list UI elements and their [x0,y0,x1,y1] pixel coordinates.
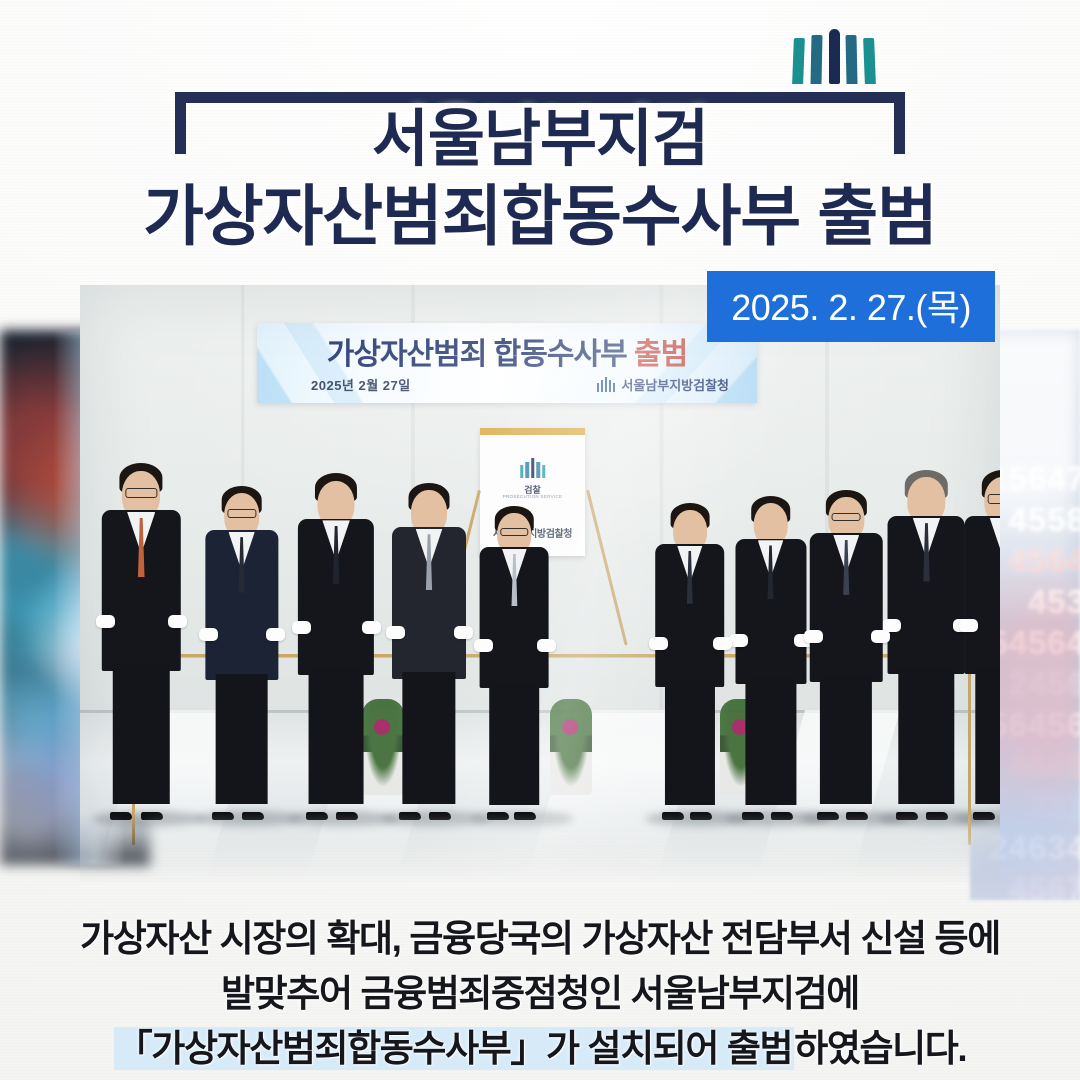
caption-line-3: 「가상자산범죄합동수사부」가 설치되어 출범하였습니다. [0,1022,1080,1077]
figure-shoe-right [846,812,868,820]
figure-legs [976,667,1000,804]
figure-glove-right [454,626,473,639]
banner-title-accent: 출범 [634,338,687,371]
figure-shoe-right [926,812,948,820]
title-line-2: 가상자산범죄합동수사부 출범 [0,180,1080,254]
plaque-name-en: PROSECUTION SERVICE [480,494,585,499]
decorative-plant [550,699,592,795]
figure-glove-left [292,621,311,634]
figure-legs [899,667,954,804]
figure-shoe-right [690,812,712,820]
official-figure [965,470,1000,813]
figure-legs [113,664,169,804]
figure-shoe-left [399,812,421,820]
official-figure [480,506,549,813]
title-line-1: 서울남부지검 [0,105,1080,174]
figure-glove-right [362,621,381,634]
figure-shoe-left [487,812,509,820]
figure-glasses [227,509,256,518]
banner-title: 가상자산범죄 합동수사부 출범 [257,329,757,373]
official-figure [102,463,180,813]
figure-glove-right [871,630,890,643]
prosecution-bars-icon [597,377,616,392]
figure-glove-right [266,628,285,641]
official-figure [810,490,883,813]
figure-shoe-right [242,812,264,820]
prosecution-service-logo-icon [793,30,875,84]
figure-legs [665,681,715,805]
figure-glove-left [474,639,493,652]
figure-shoe-right [429,812,451,820]
banner-org-label: 서울남부지방검찰청 [621,375,729,394]
figure-shoe-right [514,812,536,820]
banner-date: 2025년 2월 27일 [311,375,411,394]
figure-legs [309,668,364,804]
figure-glove-right [537,639,556,652]
prosecution-bars-icon [520,458,546,478]
banner-organization: 서울남부지방검찰청 [597,375,729,394]
figure-shoe-left [110,812,132,820]
official-figure [298,473,374,813]
figure-glove-left [199,628,218,641]
page-title: 서울남부지검 가상자산범죄합동수사부 출범 [0,105,1080,254]
ceremony-photo-block: 1564745584564453545642456564564645731246… [0,285,1080,910]
figure-legs [215,674,268,805]
figure-glove-left [96,615,115,628]
figure-legs [490,682,540,805]
banner-title-main: 가상자산범죄 합동수사부 [327,338,634,371]
caption-line-1: 가상자산 시장의 확대, 금융당국의 가상자산 전담부서 신설 등에 [0,912,1080,967]
decorative-flower [562,719,578,735]
figure-legs [745,678,796,805]
official-figure [392,483,466,813]
caption-line-3-tail: 하였습니다. [794,1028,966,1069]
figure-glasses [126,488,157,498]
figure-glove-left [386,626,405,639]
figure-glove-left [729,634,748,647]
figure-shoe-right [771,812,793,820]
figure-shoe-left [662,812,684,820]
plaque-gold-band [480,428,585,435]
figure-glove-right [168,615,187,628]
figure-glasses [988,494,1000,503]
figure-legs [820,675,872,804]
ceremony-banner: 가상자산범죄 합동수사부 출범 2025년 2월 27일 서울남부지방검찰청 [257,323,757,403]
figure-shoe-left [212,812,234,820]
caption-text: 가상자산 시장의 확대, 금융당국의 가상자산 전담부서 신설 등에 발맞추어 … [0,912,1080,1076]
figure-shoe-left [742,812,764,820]
card-news-poster: 서울남부지검 가상자산범죄합동수사부 출범 2025. 2. 27.(목) 15… [0,0,1080,1080]
figure-glove-right [713,637,732,650]
logo-bar-1 [792,38,805,84]
figure-shoe-left [973,812,995,820]
figure-glasses [501,528,528,536]
figure-glove-left [649,637,668,650]
official-figure [655,503,725,813]
official-figure [735,496,806,813]
figure-glasses [832,513,861,522]
logo-bar-3 [829,29,840,84]
logo-bar-5 [863,38,876,84]
official-figure [888,470,965,813]
figure-legs [402,672,455,804]
figure-suit [965,516,1000,674]
caption-line-2: 발맞추어 금융범죄중점청인 서울남부지검에 [0,967,1080,1022]
logo-bar-2 [810,35,822,84]
figure-shoe-left [896,812,918,820]
ceremony-photograph: 가상자산범죄 합동수사부 출범 2025년 2월 27일 서울남부지방검찰청 [80,285,1000,885]
official-figure [205,486,278,813]
date-badge: 2025. 2. 27.(목) [707,271,995,342]
figure-shoe-left [817,812,839,820]
figure-shoe-right [336,812,358,820]
figure-shoe-left [306,812,328,820]
caption-highlight: 「가상자산범죄합동수사부」가 설치되어 출범 [114,1027,794,1070]
figure-glove-left [804,630,823,643]
figure-glove-left [959,619,978,632]
figure-shoe-right [141,812,163,820]
decorative-flower [374,719,390,735]
logo-bar-4 [846,35,858,84]
